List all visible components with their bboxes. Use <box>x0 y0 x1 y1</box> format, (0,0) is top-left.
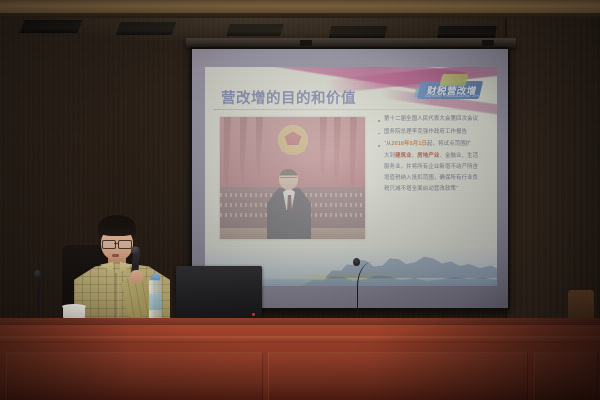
slide-photo-great-hall <box>220 117 365 239</box>
quote-line-2: 大到建筑业、房地产业、金融业、生活 <box>384 154 493 160</box>
podium-panel <box>268 352 528 400</box>
list-item: “从2016年5月1日起，将试点范围扩 大到建筑业、房地产业、金融业、生活 服务… <box>377 142 493 192</box>
ceiling-downlight-icon <box>226 24 283 36</box>
podium-panel <box>6 352 263 400</box>
screen-mount-bracket <box>300 40 312 46</box>
glasses-icon <box>102 240 116 249</box>
laptop-indicator-dot <box>252 313 255 316</box>
gooseneck-mic-head-icon <box>34 270 41 278</box>
quote-line-4: 增值税纳入抵扣范围，确保所有行业负 <box>384 176 493 182</box>
quote-line2-prefix: 大到 <box>384 153 395 159</box>
glasses-icon <box>118 240 132 249</box>
podium-desk-rail <box>0 336 600 343</box>
quote-date-highlight: 2016年5月1日 <box>392 141 428 147</box>
slide-bullet-list: 第十二届全国人民代表大会第四次会议 国务院总理李克强作政府工作报告 “从2016… <box>377 117 493 198</box>
quote-industry-highlight-a: 建筑业 <box>395 153 412 159</box>
quote-line-1: “从2016年5月1日起，将试点范围扩 <box>384 142 493 148</box>
quote-line-3: 服务业，并将所有企业新增不动产所含 <box>384 165 493 171</box>
microphone-head <box>131 246 140 255</box>
presenter-fringe <box>99 226 135 236</box>
water-bottle-label <box>149 294 162 310</box>
photo-projection-wash <box>220 117 365 239</box>
slide-title: 营改增的目的和价值 <box>221 87 356 108</box>
ceiling-downlight-icon <box>19 20 82 33</box>
presenter-hand <box>130 270 143 284</box>
list-item: 国务院总理李克强作政府工作报告 <box>377 130 493 136</box>
ceiling-downlight-icon <box>437 26 497 38</box>
bullet-text: 第十二届全国人民代表大会第四次会议 <box>384 116 478 122</box>
presentation-photo-scene: 营改增的目的和价值 财税营改增 CAISHUI YINGGAIZENG ZHUA… <box>0 0 600 400</box>
list-item: 第十二届全国人民代表大会第四次会议 <box>377 117 493 123</box>
ceiling-downlight-icon <box>116 22 177 35</box>
presenter-mouth <box>112 254 119 257</box>
quote-suffix: 起，将试点范围扩 <box>427 141 471 147</box>
desk-gooseneck-microphone <box>38 274 57 324</box>
bullet-text: 国务院总理李克强作政府工作报告 <box>384 129 467 135</box>
quote-line2-suffix: 、金融业、生活 <box>439 153 478 159</box>
podium-panel <box>534 352 598 400</box>
quote-line-5: 税只减不增全面启动营改政策” <box>384 187 493 193</box>
laptop[interactable] <box>176 266 262 322</box>
quote-prefix: “从 <box>384 141 392 147</box>
screen-mount-bracket <box>482 40 494 46</box>
glasses-bridge <box>114 243 119 244</box>
quote-industry-highlight-b: 房地产业 <box>417 153 439 159</box>
slide-brand-logo-subtext: CAISHUI YINGGAIZENG ZHUANTI <box>425 94 482 98</box>
title-divider <box>213 109 489 110</box>
ceiling-downlight-icon <box>329 26 388 38</box>
projected-slide: 营改增的目的和价值 财税营改增 CAISHUI YINGGAIZENG ZHUA… <box>205 67 497 286</box>
gooseneck-mic-head-icon <box>353 258 360 266</box>
desk-gooseneck-microphone <box>357 262 382 324</box>
slide-brand-logo: 财税营改增 CAISHUI YINGGAIZENG ZHUANTI <box>415 71 489 105</box>
